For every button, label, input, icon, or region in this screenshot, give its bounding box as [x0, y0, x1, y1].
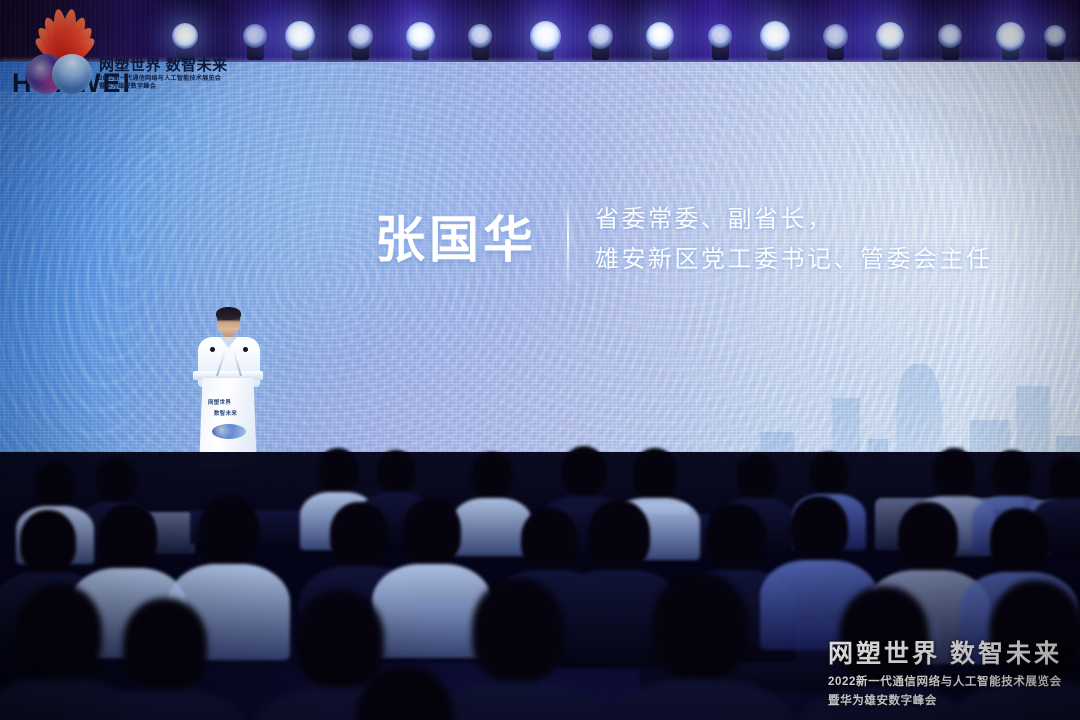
spotlight-icon-13 — [876, 22, 904, 50]
event-badge-subtitle-1: 2022新一代通信网络与人工智能技术展览会 — [99, 76, 228, 82]
audience-member-head — [377, 450, 415, 492]
audience-member-head — [35, 462, 75, 506]
audience-member-head — [96, 458, 136, 502]
event-watermark: 网塑世界 数智未来 2022新一代通信网络与人工智能技术展览会 暨华为雄安数字峰… — [828, 640, 1062, 708]
spotlight-icon-8 — [588, 24, 613, 49]
spotlight-icon-9 — [646, 22, 674, 50]
speaker-hair — [216, 307, 241, 320]
audience-member-head — [588, 500, 650, 570]
spotlight-icon-1 — [172, 23, 198, 49]
spotlight-icon-16 — [1044, 25, 1066, 47]
audience-member-head — [933, 448, 975, 496]
spotlight-icon-14 — [938, 24, 962, 48]
audience-member-head — [737, 454, 777, 498]
microphone-right-head — [243, 347, 248, 352]
globe-network-people-icon — [26, 54, 92, 94]
watermark-title: 网塑世界 数智未来 — [828, 640, 1062, 668]
audience-member-head — [992, 450, 1032, 496]
podium-emblem-icon — [212, 424, 246, 439]
audience-member-head — [652, 572, 748, 680]
audience-member-head — [403, 498, 461, 564]
podium-sign-line-1: 网塑世界 — [208, 398, 231, 406]
watermark-subtitle-2: 暨华为雄安数字峰会 — [828, 692, 1062, 708]
speaker-title-line-1: 省委常委、副省长， — [595, 207, 993, 233]
speaker-name: 张国华 — [375, 215, 537, 265]
audience-member-head — [99, 504, 157, 568]
speaker-title-line-2: 雄安新区党工委书记、管委会主任 — [595, 247, 993, 273]
audience-member-head — [356, 666, 454, 720]
watermark-subtitle-1: 2022新一代通信网络与人工智能技术展览会 — [828, 673, 1062, 689]
speaker-caption: 张国华 省委常委、副省长， 雄安新区党工委书记、管委会主任 — [375, 196, 993, 284]
spotlight-icon-3 — [285, 21, 315, 51]
event-badge-title: 网塑世界 数智未来 — [99, 58, 228, 73]
audience-member-head — [810, 452, 848, 494]
podium-sign-line-2: 数智未来 — [214, 409, 237, 417]
audience-member-torso — [598, 680, 802, 720]
event-badge-subtitle-2: 暨华为雄安数字峰会 — [99, 84, 228, 90]
conference-stage-photo: HUAWEI 网塑世界 数智未来 2022新一代通信网络与人工智能技术展览会 暨… — [0, 0, 1080, 720]
audience-member-head — [123, 598, 207, 690]
caption-divider — [567, 196, 569, 284]
spotlight-icon-5 — [406, 22, 435, 51]
audience-member-torso — [78, 690, 252, 720]
audience-member-head — [199, 496, 259, 564]
audience-member-head — [318, 448, 358, 492]
audience-member-28 — [598, 572, 802, 720]
audience-member-head — [898, 502, 958, 570]
audience-member-head — [633, 448, 677, 498]
audience-member-head — [790, 496, 848, 560]
people-circle-icon — [52, 54, 92, 94]
audience-member-31 — [300, 666, 510, 720]
speaker-title-group: 省委常委、副省长， 雄安新区党工委书记、管委会主任 — [595, 207, 993, 274]
spotlight-icon-4 — [348, 24, 373, 49]
audience-member-head — [706, 504, 766, 570]
audience-member-head — [472, 452, 512, 498]
audience-member-head — [562, 446, 606, 496]
spotlight-icon-7 — [530, 21, 561, 52]
event-badge: 网塑世界 数智未来 2022新一代通信网络与人工智能技术展览会 暨华为雄安数字峰… — [26, 54, 228, 94]
event-badge-text: 网塑世界 数智未来 2022新一代通信网络与人工智能技术展览会 暨华为雄安数字峰… — [99, 58, 228, 89]
spotlight-icon-11 — [760, 21, 790, 51]
audience-member-head — [990, 508, 1048, 572]
spotlight-icon-6 — [468, 24, 492, 48]
audience-member-head — [1049, 456, 1080, 498]
audience-member-head — [20, 510, 76, 572]
audience-member-25 — [78, 598, 252, 720]
microphone-left-head — [210, 347, 215, 352]
